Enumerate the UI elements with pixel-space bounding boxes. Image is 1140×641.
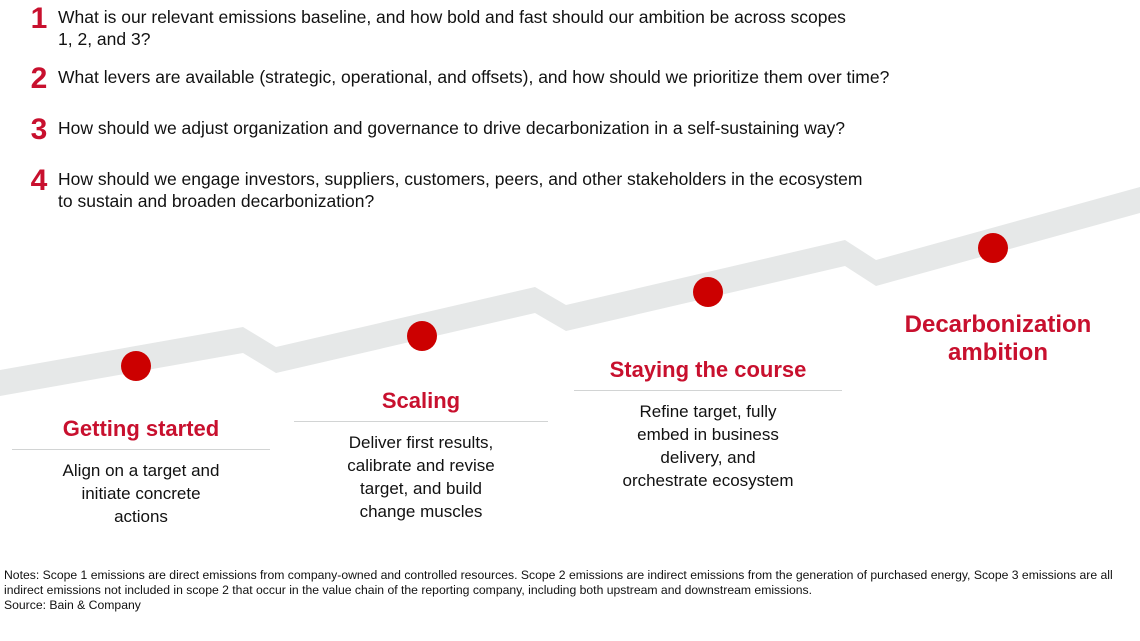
stage-column-getting-started: Getting started Align on a target and in…	[12, 416, 270, 528]
question-number-1: 1	[20, 6, 58, 31]
stage-description-2: Deliver first results, calibrate and rev…	[294, 431, 548, 523]
footer: Notes: Scope 1 emissions are direct emis…	[4, 568, 1136, 613]
question-item-1: 1 What is our relevant emissions baselin…	[20, 6, 846, 50]
footer-source: Source: Bain & Company	[4, 598, 1136, 613]
milestone-dot-2	[407, 321, 437, 351]
milestone-dot-1	[121, 351, 151, 381]
question-item-3: 3 How should we adjust organization and …	[20, 117, 845, 142]
stage-divider-1	[12, 449, 270, 450]
stage-column-decarbonization-ambition: Decarbonization ambition	[872, 311, 1124, 367]
milestone-dot-3	[693, 277, 723, 307]
question-number-2: 2	[20, 66, 58, 91]
question-text-2: What levers are available (strategic, op…	[58, 66, 889, 88]
footer-notes: Notes: Scope 1 emissions are direct emis…	[4, 568, 1136, 597]
milestone-dot-4	[978, 233, 1008, 263]
stage-title-2: Scaling	[294, 388, 548, 414]
stage-column-staying-the-course: Staying the course Refine target, fully …	[574, 357, 842, 492]
stage-description-3: Refine target, fully embed in business d…	[574, 400, 842, 492]
stage-title-1: Getting started	[12, 416, 270, 442]
stage-divider-2	[294, 421, 548, 422]
staircase-diagram	[0, 170, 1140, 420]
stage-title-3: Staying the course	[574, 357, 842, 383]
question-text-3: How should we adjust organization and go…	[58, 117, 845, 139]
question-item-2: 2 What levers are available (strategic, …	[20, 66, 889, 91]
stage-description-1: Align on a target and initiate concrete …	[12, 459, 270, 528]
stage-divider-3	[574, 390, 842, 391]
stage-column-scaling: Scaling Deliver first results, calibrate…	[294, 388, 548, 523]
question-text-1: What is our relevant emissions baseline,…	[58, 6, 846, 50]
stage-title-4: Decarbonization ambition	[872, 311, 1124, 367]
question-number-3: 3	[20, 117, 58, 142]
